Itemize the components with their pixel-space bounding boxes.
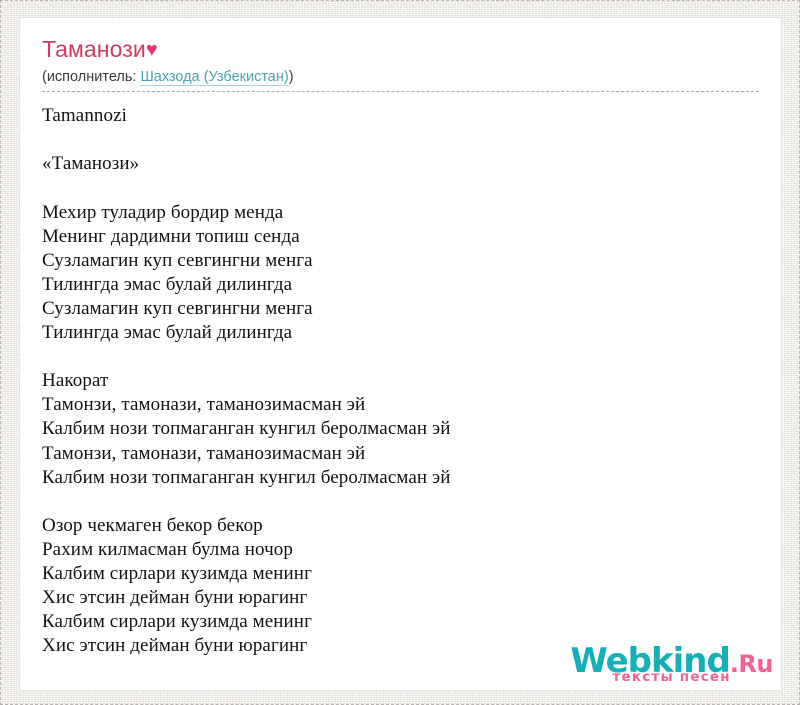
heart-icon: ♥ — [146, 39, 158, 61]
artist-prefix-label: (исполнитель: — [42, 69, 136, 85]
song-title-text: Таманози — [42, 36, 146, 62]
artist-suffix-label: ) — [289, 69, 294, 85]
song-content-card: Таманози♥ (исполнитель: Шахзода (Узбекис… — [20, 18, 781, 690]
site-logo[interactable]: Webkind.Ru тексты песен — [570, 644, 773, 685]
header-divider — [42, 91, 759, 92]
lyrics-text: Tamannozi «Таманози» Мехир туладир борди… — [42, 104, 759, 658]
artist-link[interactable]: Шахзода (Узбекистан) — [140, 69, 288, 86]
card-inner: Таманози♥ (исполнитель: Шахзода (Узбекис… — [20, 18, 781, 658]
logo-tld-text: .Ru — [730, 650, 773, 678]
page-title: Таманози♥ — [42, 36, 759, 63]
artist-line: (исполнитель: Шахзода (Узбекистан)) — [42, 68, 759, 86]
